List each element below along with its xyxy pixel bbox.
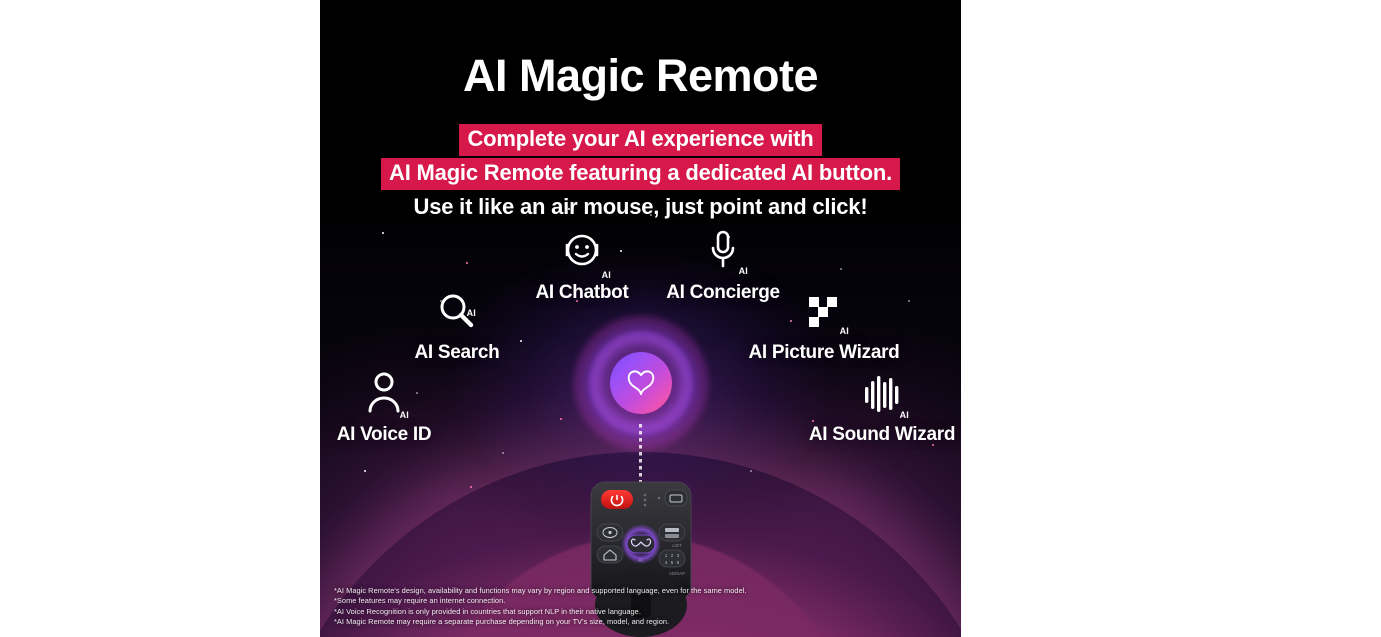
- page-title: AI Magic Remote: [320, 52, 961, 99]
- footnote-2: *Some features may require an internet c…: [334, 596, 747, 606]
- feature-ai-picture-wizard[interactable]: AI AI Picture Wizard: [735, 288, 913, 364]
- magnifier-icon: AI: [436, 291, 478, 338]
- feature-label-ai-voice-id: AI Voice ID: [320, 424, 459, 446]
- orb-to-remote-connector: [639, 424, 642, 486]
- picture-wizard-glyph-wrap: AI: [735, 288, 913, 338]
- sound-bars-icon: AI: [863, 373, 901, 420]
- sound-wizard-glyph-wrap: AI: [793, 370, 961, 420]
- svg-text:AD/SAP: AD/SAP: [668, 571, 684, 576]
- chatbot-glyph-wrap: AI: [507, 228, 657, 278]
- feature-label-ai-picture-wizard: AI Picture Wizard: [735, 342, 913, 364]
- chatbot-ai-badge: AI: [602, 270, 611, 280]
- subtitle-line-1: Complete your AI experience with: [459, 124, 821, 156]
- svg-text:LIST: LIST: [672, 543, 682, 548]
- subtitle-line-2: AI Magic Remote featuring a dedicated AI…: [381, 158, 900, 190]
- concierge-ai-badge: AI: [739, 266, 748, 276]
- feature-label-ai-sound-wizard: AI Sound Wizard: [793, 424, 961, 446]
- voice-id-ai-badge: AI: [400, 410, 409, 420]
- checkerboard-pixels-icon: AI: [807, 293, 841, 338]
- feature-label-ai-search: AI Search: [382, 342, 532, 364]
- ai-magic-remote-poster: AI Magic Remote Complete your AI experie…: [320, 0, 961, 637]
- svg-text:AI: AI: [638, 558, 644, 564]
- search-glyph-wrap: AI: [382, 288, 532, 338]
- concierge-glyph-wrap: AI: [648, 228, 798, 278]
- orb-sphere: [610, 352, 672, 414]
- person-silhouette-icon: AI: [367, 371, 401, 420]
- feature-ai-search[interactable]: AI AI Search: [382, 288, 532, 364]
- feature-ai-voice-id[interactable]: AI AI Voice ID: [320, 370, 459, 446]
- search-ai-badge: AI: [467, 308, 476, 318]
- footnote-4: *AI Magic Remote may require a separate …: [334, 617, 747, 627]
- subtitle-line-3: Use it like an air mouse, just point and…: [408, 192, 874, 224]
- footnotes: *AI Magic Remote's design, availability …: [334, 586, 747, 627]
- voice-id-glyph-wrap: AI: [320, 370, 459, 420]
- chatbot-face-headset-icon: AI: [559, 229, 605, 278]
- footnote-1: *AI Magic Remote's design, availability …: [334, 586, 747, 596]
- footnote-3: *AI Voice Recognition is only provided i…: [334, 607, 747, 617]
- picture-wizard-ai-badge: AI: [840, 326, 849, 336]
- microphone-icon: AI: [708, 229, 738, 278]
- feature-ai-sound-wizard[interactable]: AI AI Sound Wizard: [793, 370, 961, 446]
- ai-orb-knot-icon: [622, 364, 660, 402]
- page-canvas: AI Magic Remote Complete your AI experie…: [0, 0, 1381, 637]
- subtitle-block: Complete your AI experience with AI Magi…: [320, 124, 961, 225]
- sound-wizard-ai-badge: AI: [900, 410, 909, 420]
